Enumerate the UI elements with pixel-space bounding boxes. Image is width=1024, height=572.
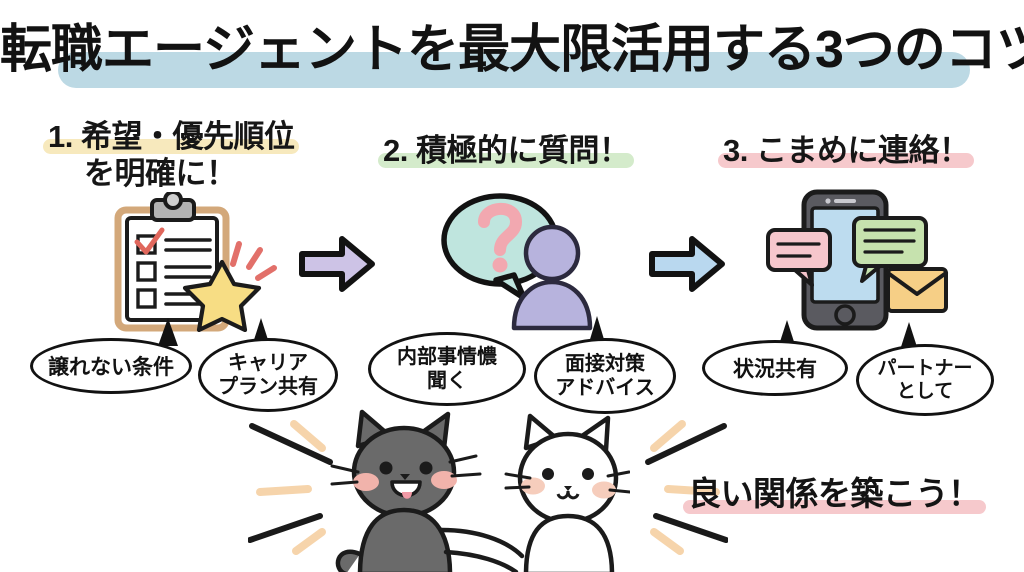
smartphone-chat-icon — [762, 184, 967, 341]
section-1-heading: 1. 希望・優先順位 を明確に！ — [48, 118, 294, 192]
bubble-tail-1a — [158, 318, 178, 346]
section-3-heading-line1: 3. こまめに連絡！ — [723, 132, 969, 169]
bubble-1a: 譲れない条件 — [30, 338, 192, 394]
bubble-1b-line1: キャリア — [218, 351, 318, 375]
bottom-tagline-text: 良い関係を築こう！ — [688, 472, 981, 516]
section-2-heading-line1: 2. 積極的に質問！ — [383, 132, 629, 169]
arrow-1-icon — [298, 232, 376, 301]
section-2-heading: 2. 積極的に質問！ — [383, 132, 629, 169]
section-3-heading: 3. こまめに連絡！ — [723, 132, 969, 169]
bottom-tagline: 良い関係を築こう！ — [688, 472, 981, 516]
bubble-2b-line2: アドバイス — [555, 376, 654, 400]
bubble-3a-text: 状況共有 — [733, 353, 817, 383]
arrow-2-icon — [648, 232, 726, 301]
white-cat — [506, 416, 630, 572]
bubble-3a: 状況共有 — [702, 340, 848, 396]
section-1-heading-line2: を明確に！ — [48, 155, 294, 192]
two-cats-illustration — [330, 404, 630, 572]
bubble-2a: 内部事情憹 聞く — [368, 332, 526, 406]
dark-cat — [332, 412, 522, 572]
bubble-3b: パートナー として — [856, 344, 994, 416]
bubble-1b-line2: プラン共有 — [218, 375, 318, 399]
bubble-1b: キャリア プラン共有 — [198, 338, 338, 412]
bubble-2b-line1: 面接対策 — [555, 352, 654, 376]
bubble-1a-text: 譲れない条件 — [48, 351, 174, 381]
bubble-3b-line1: パートナー — [877, 357, 972, 380]
section-1-heading-line1: 1. 希望・優先順位 — [48, 118, 294, 155]
infographic-canvas: 転職エージェントを最大限活用する3つのコツ 1. 希望・優先順位 を明確に！ 2… — [0, 0, 1024, 572]
bubble-3b-line2: として — [877, 380, 972, 403]
bubble-2b: 面接対策 アドバイス — [534, 338, 676, 414]
page-title: 転職エージェントを最大限活用する3つのコツ — [0, 8, 1024, 92]
bubble-2a-line1: 内部事情憹 — [397, 345, 497, 369]
clipboard-checklist-icon — [100, 192, 290, 337]
bubble-2a-line2: 聞く — [397, 369, 497, 393]
title-area: 転職エージェントを最大限活用する3つのコツ — [0, 8, 1024, 100]
